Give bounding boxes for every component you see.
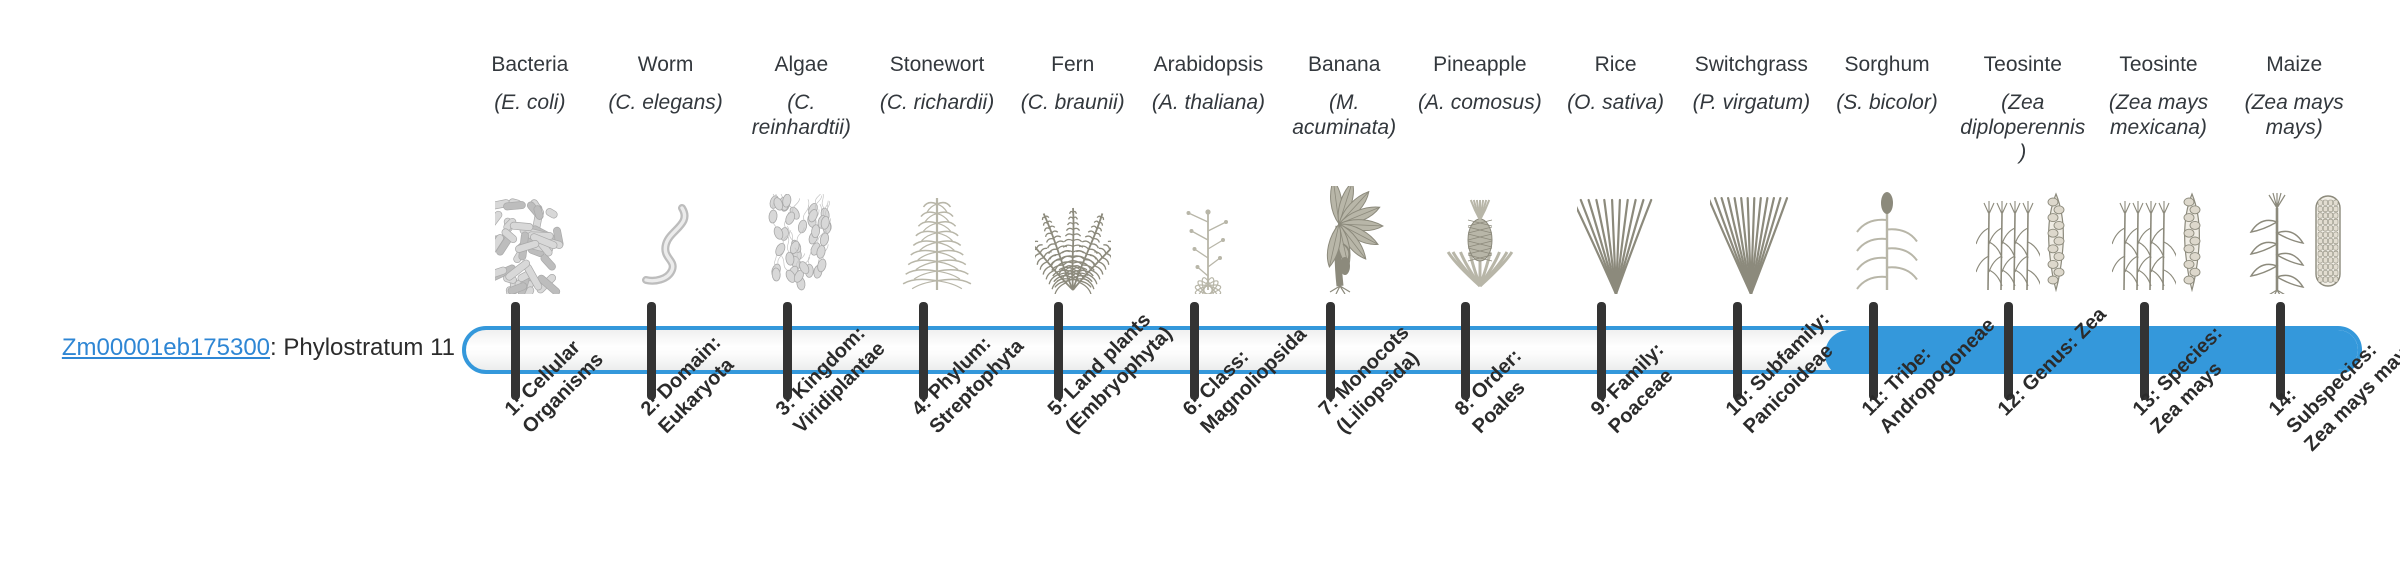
species-common-name: Teosinte [2093, 52, 2225, 78]
species-column-banana: Banana(M. acuminata) [1276, 52, 1412, 172]
arabidopsis-icon [1141, 172, 1277, 294]
species-column-teosinte: Teosinte(Zea mays mexicana) [2091, 52, 2227, 172]
species-common-name: Worm [600, 52, 732, 78]
species-column-arabidopsis: Arabidopsis(A. thaliana) [1141, 52, 1277, 172]
teosinte-icon [1955, 172, 2091, 294]
species-column-rice: Rice(O. sativa) [1548, 52, 1684, 172]
banana-icon [1276, 172, 1412, 294]
species-column-maize: Maize(Zea mays mays) [2226, 52, 2362, 172]
maize-icon [2226, 172, 2362, 294]
species-common-name: Rice [1550, 52, 1682, 78]
organism-illustration-row [462, 172, 2362, 294]
sorghum-icon [1819, 172, 1955, 294]
species-column-fern: Fern(C. braunii) [1005, 52, 1141, 172]
species-column-switchgrass: Switchgrass(P. virgatum) [1683, 52, 1819, 172]
species-scientific-name: (P. virgatum) [1685, 90, 1817, 115]
species-column-pineapple: Pineapple(A. comosus) [1412, 52, 1548, 172]
worm-icon [598, 172, 734, 294]
species-common-name: Fern [1007, 52, 1139, 78]
species-scientific-name: (A. thaliana) [1143, 90, 1275, 115]
taxonomy-rank-label-row: 1: Cellular Organisms2: Domain: Eukaryot… [462, 404, 2362, 584]
species-column-algae: Algae(C. reinhardtii) [733, 52, 869, 172]
species-scientific-name: (Zea mays mexicana) [2093, 90, 2225, 140]
phylostratum-value-text: Phylostratum 11 [283, 334, 455, 361]
species-column-sorghum: Sorghum(S. bicolor) [1819, 52, 1955, 172]
phylostratum-chart: Zm00001eb175300: Phylostratum 11 Bacteri… [0, 0, 2400, 580]
species-header-row: Bacteria(E. coli)Worm(C. elegans)Algae(C… [462, 52, 2362, 172]
species-scientific-name: (C. reinhardtii) [735, 90, 867, 140]
species-common-name: Arabidopsis [1143, 52, 1275, 78]
species-scientific-name: (S. bicolor) [1821, 90, 1953, 115]
stonewort-icon [869, 172, 1005, 294]
species-scientific-name: (C. richardii) [871, 90, 1003, 115]
species-common-name: Pineapple [1414, 52, 1546, 78]
species-scientific-name: (O. sativa) [1550, 90, 1682, 115]
species-scientific-name: (C. elegans) [600, 90, 732, 115]
pineapple-icon [1412, 172, 1548, 294]
bacteria-icon [462, 172, 598, 294]
species-common-name: Teosinte [1957, 52, 2089, 78]
algae-icon [733, 172, 869, 294]
species-common-name: Stonewort [871, 52, 1003, 78]
species-common-name: Maize [2228, 52, 2360, 78]
gene-separator: : [270, 334, 283, 361]
species-column-bacteria: Bacteria(E. coli) [462, 52, 598, 172]
switchgrass-icon [1683, 172, 1819, 294]
species-common-name: Sorghum [1821, 52, 1953, 78]
taxonomy-rank-label: 14: Subspecies: Zea mays mays [2264, 298, 2400, 457]
fern-icon [1005, 172, 1141, 294]
species-scientific-name: (C. braunii) [1007, 90, 1139, 115]
species-column-teosinte: Teosinte(Zea diploperennis) [1955, 52, 2091, 172]
species-common-name: Switchgrass [1685, 52, 1817, 78]
species-scientific-name: (E. coli) [464, 90, 596, 115]
species-common-name: Bacteria [464, 52, 596, 78]
species-common-name: Banana [1278, 52, 1410, 78]
species-scientific-name: (Zea diploperennis) [1957, 90, 2089, 165]
gene-id-link[interactable]: Zm00001eb175300 [62, 334, 270, 361]
species-column-stonewort: Stonewort(C. richardii) [869, 52, 1005, 172]
rice-icon [1548, 172, 1684, 294]
species-scientific-name: (Zea mays mays) [2228, 90, 2360, 140]
species-column-worm: Worm(C. elegans) [598, 52, 734, 172]
gene-phylostratum-label: Zm00001eb175300: Phylostratum 11 [0, 333, 455, 363]
teosinte-icon [2091, 172, 2227, 294]
species-common-name: Algae [735, 52, 867, 78]
species-scientific-name: (M. acuminata) [1278, 90, 1410, 140]
species-scientific-name: (A. comosus) [1414, 90, 1546, 115]
